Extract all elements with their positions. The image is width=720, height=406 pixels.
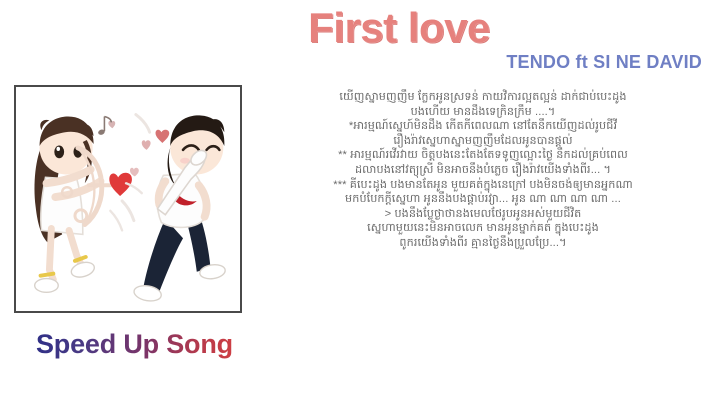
speed-up-song-caption: Speed Up Song bbox=[36, 330, 296, 360]
lyrics-line: យើញស្នាមញញឹម ក្លែកអូនស្រទន់ កាយវិការល្អត… bbox=[246, 90, 720, 105]
song-artist: TENDO ft SI NE DAVID bbox=[250, 52, 712, 73]
lyrics-line: បងហើយ មានដឹងទេក្រិនក្រឹម ....។ bbox=[246, 105, 720, 120]
song-title: First love bbox=[250, 6, 712, 50]
title-block: First love TENDO ft SI NE DAVID bbox=[250, 6, 712, 73]
artwork-frame bbox=[14, 85, 242, 313]
lyrics-line: ** អារម្មណ៍រវើរវាយ ចិត្តបងនេះតែងតែទទូញល្… bbox=[246, 148, 720, 163]
couple-illustration-icon bbox=[16, 87, 240, 311]
lyrics-line: ពូករយើងទាំងពីរ គ្មានថ្ងៃនឹងប្រួលប្រែ...។ bbox=[246, 236, 720, 251]
lyrics-line: ស្នេហាមួយនេះមិនអាចលេក មានអូនម្នាក់គត់ ក្… bbox=[246, 221, 720, 236]
video-frame: First love TENDO ft SI NE DAVID bbox=[0, 0, 720, 406]
lyrics-block: យើញស្នាមញញឹម ក្លែកអូនស្រទន់ កាយវិការល្អត… bbox=[246, 90, 720, 251]
lyrics-line: > បងនឹងប្លែថ្ងាថានងមេលថែរូបអូនអស់មួយជីវិ… bbox=[246, 207, 720, 222]
lyrics-line: *** គីបេះដូង បងមានតែអូន មួយគត់ក្នុងនេក្រ… bbox=[246, 178, 720, 193]
lyrics-line: ដលាបងនៅវត្យុស្រី មិនអាចនឹងបំភ្លេច រឿងរ៉ា… bbox=[246, 163, 720, 178]
lyrics-line: រឿងរ៉ាវស្នេហាស្នាមញញឹមដែលអូនបានផ្តល់ bbox=[246, 134, 720, 149]
lyrics-line: មកបំបែកក្តីស្នេហា អូននឹងបងផ្តាប់រវ្យា...… bbox=[246, 192, 720, 207]
lyrics-line: *អារម្មណ៍ស្នេហ៍មិនដឹង កើតកីពេលណា នៅតែនឹក… bbox=[246, 119, 720, 134]
